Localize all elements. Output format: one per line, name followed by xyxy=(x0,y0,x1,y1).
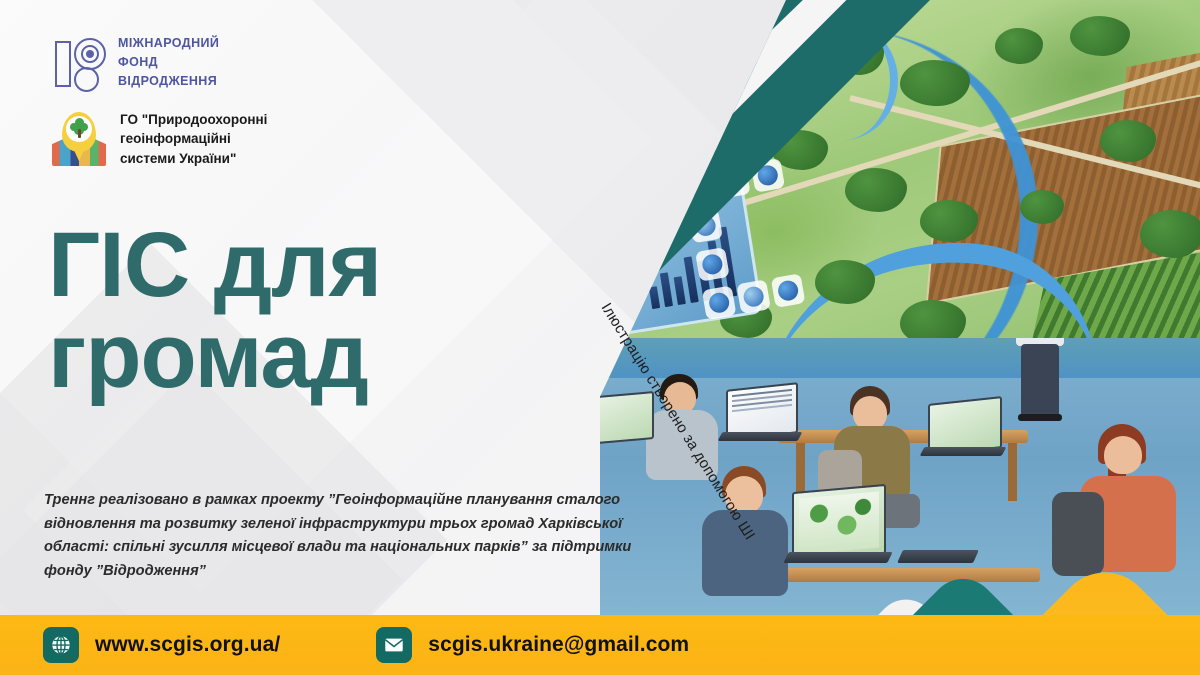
tree-icon xyxy=(70,118,88,138)
tree-cluster xyxy=(845,168,907,212)
laptop xyxy=(600,394,656,448)
laptop xyxy=(922,400,1002,462)
trainee-head xyxy=(853,396,887,430)
email-contact[interactable]: scgis.ukraine@gmail.com xyxy=(376,627,689,663)
scgis-logo-icon xyxy=(52,112,106,166)
project-description: Треннг реалізовано в рамках проекту ”Гео… xyxy=(44,489,644,584)
trainee-head xyxy=(1104,436,1142,474)
desk-leg xyxy=(1008,443,1017,501)
laptop-base xyxy=(718,432,803,441)
tree-cluster xyxy=(1070,16,1130,56)
laptop-screen xyxy=(600,391,654,445)
website-contact[interactable]: www.scgis.org.ua/ xyxy=(43,627,280,663)
gis-zoom-icon xyxy=(702,285,737,320)
title-line-1: ГІС для xyxy=(48,214,381,316)
laptop-base xyxy=(783,552,892,563)
tree-cluster xyxy=(1140,210,1200,258)
projection-screen xyxy=(600,338,1200,378)
circle-icon xyxy=(74,67,99,92)
presenter-shoes xyxy=(1018,414,1062,421)
closed-laptop-body xyxy=(897,550,979,563)
laptop xyxy=(786,488,886,574)
tree-cluster xyxy=(1020,190,1064,224)
laptop xyxy=(720,386,798,446)
tree-cluster xyxy=(1100,120,1156,162)
contact-footer: www.scgis.org.ua/ scgis.ukraine@gmail.co… xyxy=(0,615,1200,675)
chair xyxy=(1052,492,1104,576)
map-pin-icon xyxy=(62,112,96,152)
irf-line-3: ВІДРОДЖЕННЯ xyxy=(118,72,219,91)
title-line-2: громад xyxy=(48,311,381,402)
screen-content xyxy=(732,389,792,397)
envelope-icon xyxy=(376,627,412,663)
presenter-trousers xyxy=(1021,344,1059,418)
irf-logo-icon xyxy=(52,36,104,88)
poster-canvas: Ілюстрацію створено за допомогою ШІ МІЖН… xyxy=(0,0,1200,675)
logo-group: МІЖНАРОДНИЙ ФОНД ВІДРОДЖЕННЯ xyxy=(52,34,267,168)
gis-basemap-icon xyxy=(695,247,730,282)
email-address[interactable]: scgis.ukraine@gmail.com xyxy=(428,633,689,657)
scgis-line-3: системи України" xyxy=(120,149,267,168)
tree-cluster xyxy=(920,200,978,242)
closed-laptop xyxy=(900,550,976,566)
scgis-line-1: ГО "Природоохоронні xyxy=(120,110,267,129)
gis-tool-row xyxy=(702,272,811,320)
page-title: ГІС для громад xyxy=(48,220,381,402)
irf-line-2: ФОНД xyxy=(118,53,219,72)
gis-info-icon xyxy=(771,273,806,308)
concentric-circles-icon xyxy=(74,38,106,70)
scgis-line-2: геоінформаційні xyxy=(120,129,267,148)
presenter xyxy=(1004,338,1076,422)
irf-logo-text: МІЖНАРОДНИЙ ФОНД ВІДРОДЖЕННЯ xyxy=(118,34,219,90)
globe-icon xyxy=(43,627,79,663)
website-url[interactable]: www.scgis.org.ua/ xyxy=(95,633,280,657)
laptop-screen xyxy=(792,484,886,562)
irf-logo: МІЖНАРОДНИЙ ФОНД ВІДРОДЖЕННЯ xyxy=(52,34,267,90)
scgis-logo-text: ГО "Природоохоронні геоінформаційні сист… xyxy=(120,110,267,167)
tree-cluster xyxy=(995,28,1043,64)
scgis-logo: ГО "Природоохоронні геоінформаційні сист… xyxy=(52,110,267,167)
tree-cluster xyxy=(900,60,970,106)
irf-line-1: МІЖНАРОДНИЙ xyxy=(118,34,219,53)
laptop-base xyxy=(920,447,1007,456)
gis-pan-icon xyxy=(736,279,771,314)
tree-cluster xyxy=(815,260,875,304)
irf-bar-shape xyxy=(55,41,71,87)
screen-map-content xyxy=(799,492,879,555)
